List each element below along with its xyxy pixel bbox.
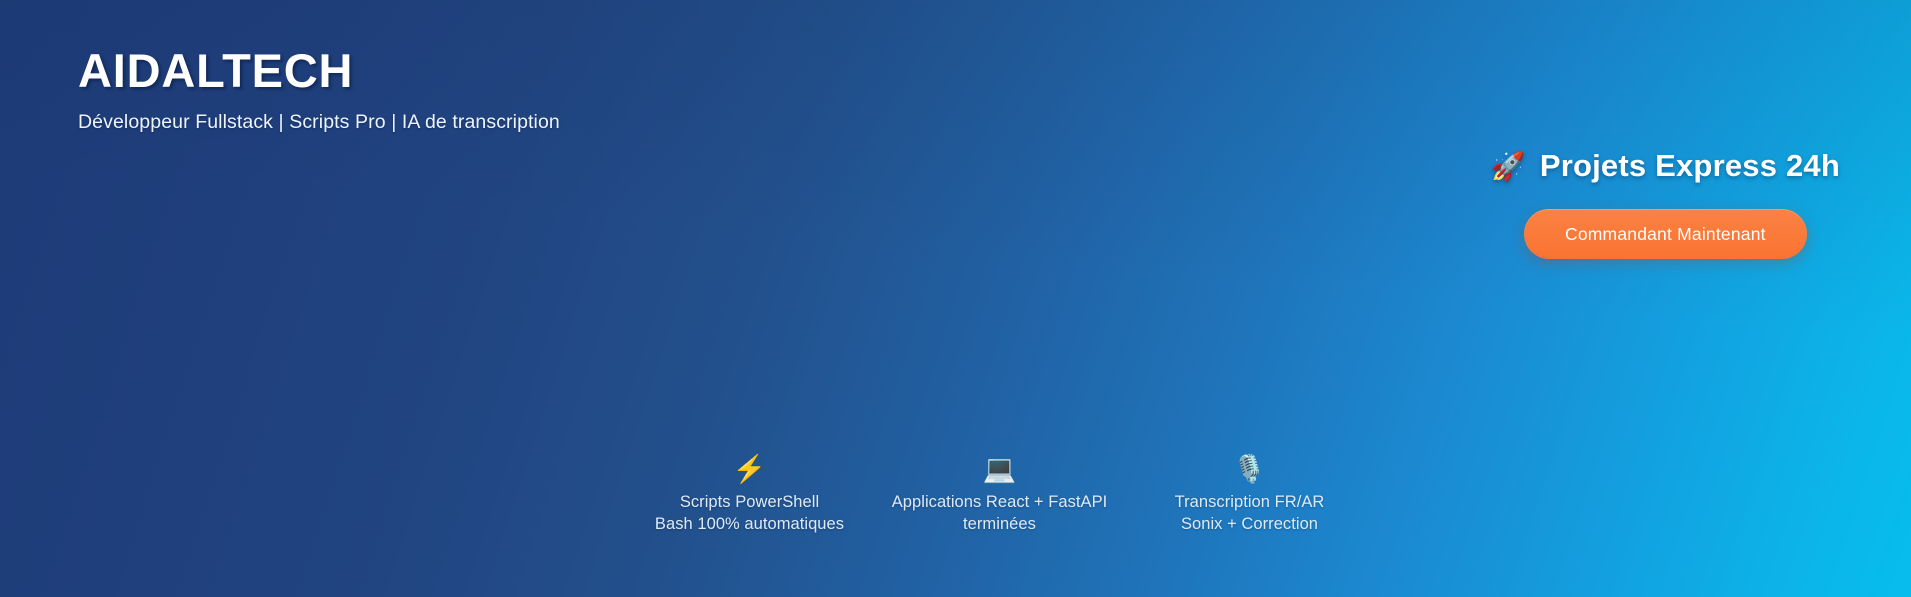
express-headline-label: Projets Express 24h [1540, 148, 1840, 184]
feature-label-transcription: Transcription FR/AR Sonix + Correction [1175, 492, 1325, 536]
feature-label-webapps: Applications React + FastAPI terminées [892, 492, 1108, 536]
order-now-button[interactable]: Commandant Maintenant [1524, 209, 1807, 259]
express-promo-block: 🚀 Projets Express 24h Commandant Mainten… [1491, 148, 1840, 259]
brand-title: AIDALTECH [78, 46, 560, 97]
feature-item-transcription: 🎙️ Transcription FR/AR Sonix + Correctio… [1125, 452, 1375, 536]
feature-label-powershell: Scripts PowerShell Bash 100% automatique… [655, 492, 844, 536]
hero-banner: AIDALTECH Développeur Fullstack | Script… [0, 0, 1911, 597]
feature-item-webapps: 💻 Applications React + FastAPI terminées [875, 452, 1125, 536]
laptop-icon: 💻 [983, 452, 1017, 486]
lightning-bolt-icon: ⚡ [733, 452, 767, 486]
studio-microphone-icon: 🎙️ [1233, 452, 1267, 486]
feature-strip: ⚡ Scripts PowerShell Bash 100% automatiq… [0, 452, 1911, 536]
rocket-icon: 🚀 [1491, 153, 1526, 181]
express-headline: 🚀 Projets Express 24h [1491, 148, 1840, 184]
brand-block: AIDALTECH Développeur Fullstack | Script… [78, 46, 560, 134]
feature-item-powershell: ⚡ Scripts PowerShell Bash 100% automatiq… [625, 452, 875, 536]
brand-tagline: Développeur Fullstack | Scripts Pro | IA… [78, 111, 560, 134]
